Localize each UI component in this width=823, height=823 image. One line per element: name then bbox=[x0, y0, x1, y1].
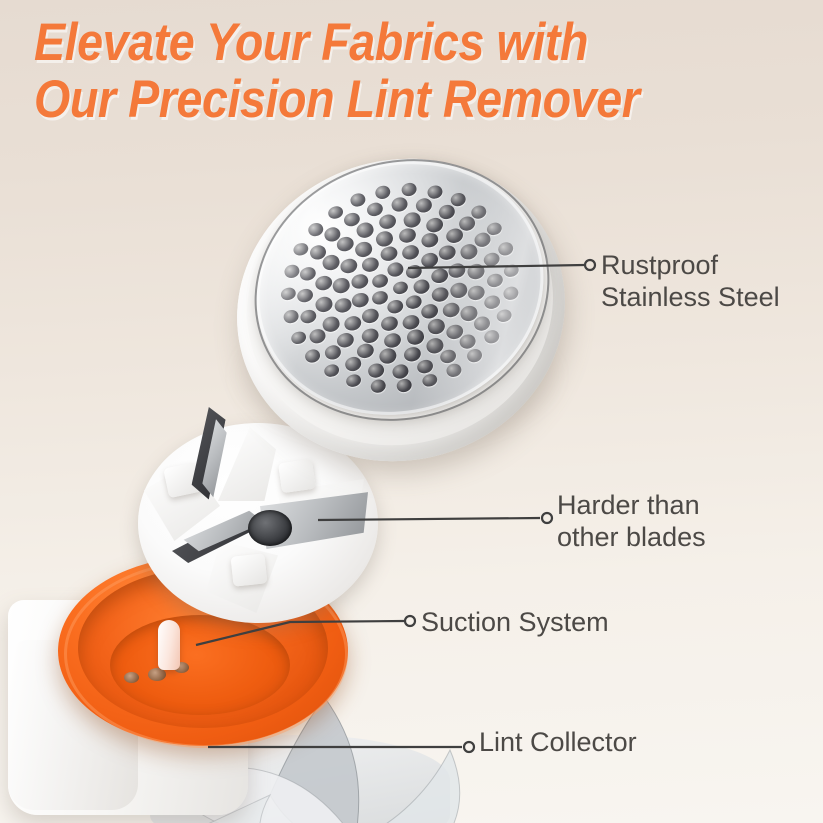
product-feature-poster: Elevate Your Fabrics with Our Precision … bbox=[0, 0, 823, 823]
callout-label-stainless-steel: Rustproof Stainless Steel bbox=[601, 249, 780, 313]
callout-label-blades: Harder than other blades bbox=[557, 489, 706, 553]
callout-label-lint-collector: Lint Collector bbox=[479, 726, 637, 758]
callout-label-suction: Suction System bbox=[421, 606, 609, 638]
page-headline: Elevate Your Fabrics with Our Precision … bbox=[34, 14, 703, 128]
rotor-pad-2 bbox=[278, 459, 316, 493]
rotor-hub bbox=[248, 510, 292, 546]
rotor-pad-3 bbox=[231, 553, 268, 586]
screw-left bbox=[124, 672, 139, 683]
